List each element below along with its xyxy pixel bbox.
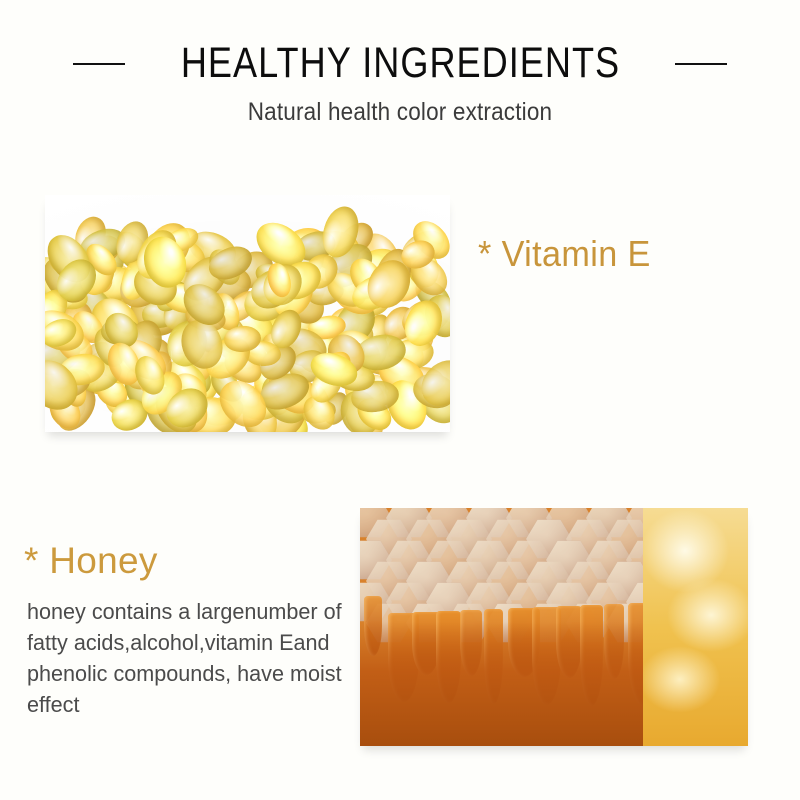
title-rule-left <box>73 63 125 65</box>
page-header: HEALTHY INGREDIENTS Natural health color… <box>0 0 800 160</box>
honey-description: honey contains a largenumber of fatty ac… <box>27 596 344 720</box>
honeycomb-image <box>360 508 748 746</box>
wax-comb-right <box>643 508 748 746</box>
title-rule-right <box>675 63 727 65</box>
page-subtitle: Natural health color extraction <box>40 98 760 127</box>
vitamin-e-label: * Vitamin E <box>478 233 651 275</box>
capsule-cluster <box>45 195 450 432</box>
honey-section: * Honey honey contains a largenumber of … <box>0 508 800 758</box>
honey-label: * Honey <box>24 540 158 582</box>
vitamin-e-section: * Vitamin E <box>0 195 800 445</box>
title-row: HEALTHY INGREDIENTS <box>0 42 800 85</box>
page-title: HEALTHY INGREDIENTS <box>180 42 619 85</box>
vitamin-e-capsules-image <box>45 195 450 432</box>
